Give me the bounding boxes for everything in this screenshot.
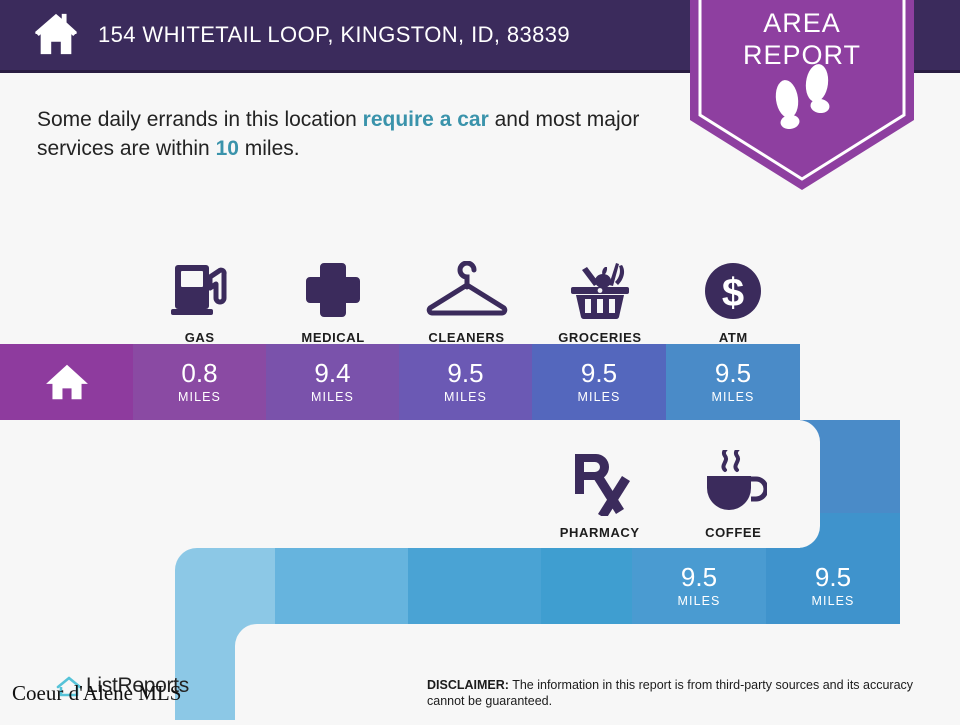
category-label: PHARMACY: [560, 525, 640, 540]
distance-unit: MILES: [444, 390, 487, 404]
intro-part-1: Some daily errands in this location: [37, 108, 363, 131]
intro-text: Some daily errands in this location requ…: [37, 105, 667, 163]
mls-watermark: Coeur d'Alene MLS: [12, 681, 181, 706]
category-label: CLEANERS: [428, 330, 504, 345]
distance-cell-cleaners: 9.5 MILES: [399, 344, 532, 420]
svg-text:$: $: [722, 271, 744, 315]
category-medical: MEDICAL: [266, 240, 399, 345]
medical-cross-icon: [302, 249, 364, 321]
distance-value: 9.5: [681, 564, 717, 591]
distance-cell-medical: 9.4 MILES: [266, 344, 399, 420]
category-label: GAS: [185, 330, 215, 345]
clothes-hanger-icon: [424, 249, 510, 321]
category-label: GROCERIES: [558, 330, 641, 345]
distance-row-3: 9.5 MILES 9.5 MILES: [175, 548, 900, 624]
distance-unit: MILES: [311, 390, 354, 404]
disclaimer: DISCLAIMER: The information in this repo…: [427, 677, 927, 709]
distance-value: 0.8: [181, 360, 217, 387]
distance-snake-chart: 0.8 MILES 9.4 MILES 9.5 MILES 9.5 MILES …: [0, 344, 960, 720]
category-label: MEDICAL: [301, 330, 364, 345]
category-atm: $ ATM: [667, 240, 800, 345]
dollar-coin-icon: $: [703, 249, 763, 321]
page-title: 154 WHITETAIL LOOP, KINGSTON, ID, 83839: [98, 22, 570, 48]
distance-value: 9.5: [715, 360, 751, 387]
badge-label: AREA REPORT: [690, 7, 914, 71]
intro-part-3: miles.: [239, 137, 300, 160]
distance-unit: MILES: [811, 594, 854, 608]
category-gas: GAS: [133, 240, 266, 345]
distance-cell-groceries: 9.5 MILES: [532, 344, 666, 420]
distance-value: 9.5: [581, 360, 617, 387]
home-cell: [0, 344, 133, 420]
intro-highlight-1: require a car: [363, 108, 489, 131]
category-coffee: COFFEE: [667, 440, 801, 540]
coffee-cup-icon: [699, 444, 767, 516]
category-label: COFFEE: [705, 525, 761, 540]
row3-filler-3: [408, 548, 541, 624]
distance-cell-gas: 0.8 MILES: [133, 344, 266, 420]
distance-cell-coffee: 9.5 MILES: [766, 548, 900, 624]
distance-value: 9.4: [314, 360, 350, 387]
category-icon-row-2: PHARMACY COFFEE: [533, 440, 800, 540]
distance-row-1: 0.8 MILES 9.4 MILES 9.5 MILES 9.5 MILES …: [0, 344, 900, 420]
distance-unit: MILES: [677, 594, 720, 608]
distance-unit: MILES: [711, 390, 754, 404]
category-label: ATM: [719, 330, 748, 345]
distance-unit: MILES: [577, 390, 620, 404]
row3-filler-2: [275, 548, 408, 624]
distance-unit: MILES: [178, 390, 221, 404]
intro-highlight-2: 10: [216, 137, 239, 160]
home-icon: [33, 12, 79, 58]
disclaimer-label: DISCLAIMER:: [427, 678, 509, 692]
category-icon-row-1: GAS MEDICAL CLEANERS: [133, 240, 800, 345]
badge-line-2: REPORT: [690, 39, 914, 71]
home-icon: [45, 362, 89, 402]
distance-value: 9.5: [447, 360, 483, 387]
category-pharmacy: PHARMACY: [533, 440, 667, 540]
distance-cell-atm: 9.5 MILES: [666, 344, 800, 420]
category-groceries: GROCERIES: [533, 240, 666, 345]
footer-logos: ListReports Coeur d'Alene MLS: [8, 672, 258, 712]
grocery-basket-icon: [567, 249, 633, 321]
area-report-badge: AREA REPORT: [690, 0, 914, 190]
distance-cell-pharmacy: 9.5 MILES: [632, 548, 766, 624]
row3-filler-4: [541, 548, 632, 624]
rx-icon: [569, 444, 631, 516]
gas-pump-icon: [169, 249, 231, 321]
distance-value: 9.5: [815, 564, 851, 591]
category-cleaners: CLEANERS: [400, 240, 533, 345]
badge-line-1: AREA: [690, 7, 914, 39]
